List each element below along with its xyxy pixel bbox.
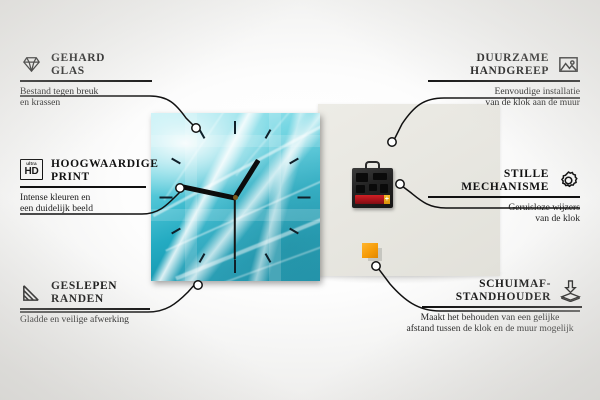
feature-title: GEHARD GLAS (51, 52, 105, 77)
gear-icon (557, 169, 580, 192)
feature-title: GESLEPEN RANDEN (51, 280, 117, 305)
feature-description: Gladde en veilige afwerking (20, 314, 196, 326)
feature-description: Bestand tegen breuk en krassen (20, 86, 196, 109)
hour-marker-12 (234, 121, 236, 134)
beveled-edges-icon (20, 281, 43, 304)
spacer-drop-icon (559, 279, 582, 302)
feature-duurzame-handgreep: DUURZAME HANDGREEP Eenvoudige installati… (404, 52, 580, 109)
hour-marker-3 (298, 197, 311, 199)
feature-description: Maakt het behouden van een gelijke afsta… (398, 312, 582, 335)
hanger-loop-icon (365, 161, 380, 169)
battery: + (355, 195, 390, 204)
feature-schuimafstandhouder: SCHUIMAF- STANDHOUDER Maakt het behouden… (398, 278, 582, 335)
picture-frame-icon (557, 53, 580, 76)
movement-notch (356, 173, 368, 182)
feature-underline (428, 80, 580, 82)
hd-label: HD (24, 167, 38, 177)
ultra-hd-icon: ultra HD (20, 159, 43, 182)
feature-heading: GEHARD GLAS (20, 52, 196, 77)
diamond-icon (20, 53, 43, 76)
feature-description: Geruisloze wijzers van de klok (404, 202, 580, 225)
feature-heading: STILLE MECHANISME (404, 168, 580, 193)
feature-stille-mechanisme: STILLE MECHANISME Geruisloze wijzers van… (404, 168, 580, 225)
clock-movement: + (352, 168, 393, 208)
feature-underline (20, 186, 146, 188)
movement-notch (373, 173, 387, 180)
feature-title: SCHUIMAF- STANDHOUDER (456, 278, 551, 303)
feature-underline (20, 80, 152, 82)
feature-underline (422, 306, 582, 308)
feature-underline (428, 196, 580, 198)
hour-marker-7 (199, 253, 206, 263)
feature-heading: ultra HD HOOGWAARDIGE PRINT (20, 158, 196, 183)
infographic-canvas: + (0, 0, 600, 400)
feature-heading: GESLEPEN RANDEN (20, 280, 196, 305)
feature-title: DUURZAME HANDGREEP (470, 52, 549, 77)
hour-marker-8 (171, 228, 181, 235)
hour-marker-2 (289, 158, 299, 165)
hour-marker-6 (234, 260, 236, 273)
hands-hub (233, 195, 238, 200)
feature-title: HOOGWAARDIGE PRINT (51, 158, 159, 183)
feature-underline (20, 308, 150, 310)
feature-geslepen-randen: GESLEPEN RANDEN Gladde en veilige afwerk… (20, 280, 196, 325)
movement-notch (369, 184, 377, 191)
movement-notch (356, 185, 365, 193)
feature-title: STILLE MECHANISME (461, 168, 549, 193)
feature-gehard-glas: GEHARD GLAS Bestand tegen breuk en krass… (20, 52, 196, 109)
feature-heading: SCHUIMAF- STANDHOUDER (398, 278, 582, 303)
foam-spacer (362, 243, 378, 258)
feature-description: Intense kleuren en een duidelijk beeld (20, 192, 196, 215)
feature-description: Eenvoudige installatie van de klok aan d… (404, 86, 580, 109)
feature-hoogwaardige-print: ultra HD HOOGWAARDIGE PRINT Intense kleu… (20, 158, 196, 215)
movement-notch (380, 184, 388, 193)
feature-heading: DUURZAME HANDGREEP (404, 52, 580, 77)
second-hand (234, 197, 236, 259)
battery-plus-label: + (385, 196, 389, 203)
